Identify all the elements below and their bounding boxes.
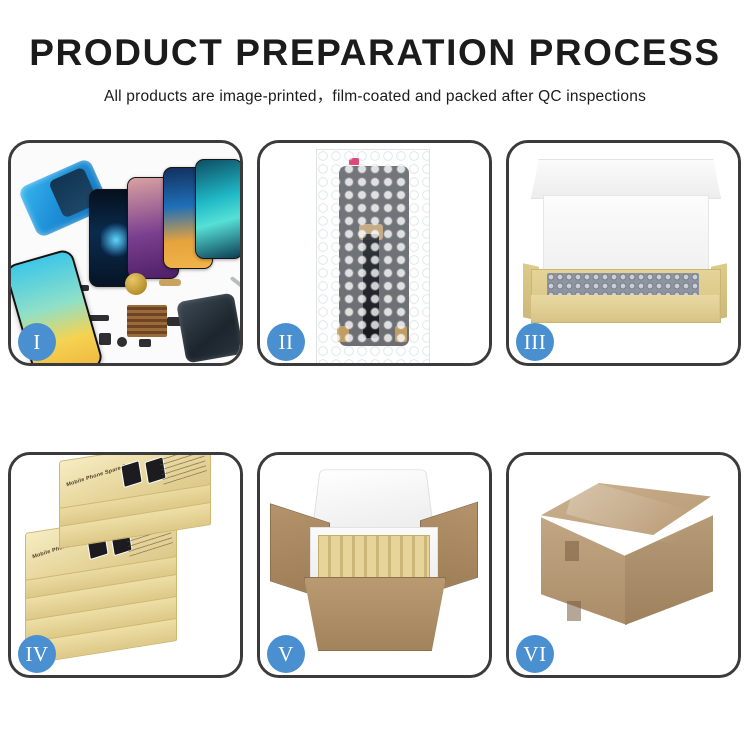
carton-body-icon [304, 577, 446, 651]
carton-tab-icon [567, 601, 581, 621]
printed-screen-icon [120, 460, 142, 488]
process-step-grid: I II [8, 140, 742, 692]
page-subtitle: All products are image-printed，film-coat… [0, 84, 750, 106]
step-badge-3: III [516, 323, 554, 361]
spec-lines [159, 455, 207, 485]
process-step-panel-1[interactable]: I [8, 140, 243, 366]
page-title: PRODUCT PREPARATION PROCESS [0, 34, 750, 71]
process-step-panel-4[interactable]: Mobile Phone Spare Parts Mobile Phone Sp… [8, 452, 243, 678]
bubble-wrap-bag-icon [316, 149, 430, 363]
small-part-icon [99, 333, 111, 345]
foam-sheet-icon [543, 195, 709, 275]
step-badge-4: IV [18, 635, 56, 673]
coil-part-icon [125, 273, 147, 295]
phone-icon [195, 159, 240, 259]
kraft-box-front-icon [531, 295, 719, 321]
label-sticker-icon [349, 158, 359, 165]
carton-left-face [541, 515, 627, 625]
small-part-icon [117, 337, 127, 347]
foam-lid-icon [312, 469, 434, 530]
phone-back-housing-icon [176, 292, 240, 363]
product-preparation-page: PRODUCT PREPARATION PROCESS All products… [0, 0, 750, 750]
gold-contact-icon [395, 326, 407, 342]
gold-contact-icon [337, 326, 349, 342]
kraft-boxes-inside-icon [318, 535, 430, 579]
step-badge-5: V [267, 635, 305, 673]
logic-board-icon [127, 305, 167, 337]
phone-lineup [89, 159, 239, 289]
screwdriver-icon [230, 276, 240, 290]
step-badge-1: I [18, 323, 56, 361]
carton-tab-icon [565, 541, 579, 561]
process-step-panel-5[interactable]: V [257, 452, 492, 678]
step-badge-6: VI [516, 635, 554, 673]
flex-cable-icon [159, 279, 181, 286]
process-step-panel-2[interactable]: II [257, 140, 492, 366]
page-header: PRODUCT PREPARATION PROCESS All products… [0, 0, 750, 106]
foam-lid-icon [531, 159, 721, 199]
step-badge-2: II [267, 323, 305, 361]
process-step-panel-3[interactable]: III [506, 140, 741, 366]
box-stack: Mobile Phone Spare Parts Mobile Phone Sp… [19, 469, 233, 669]
process-step-panel-6[interactable]: VI [506, 452, 741, 678]
flex-cable-icon [363, 234, 379, 338]
small-part-icon [139, 339, 151, 347]
